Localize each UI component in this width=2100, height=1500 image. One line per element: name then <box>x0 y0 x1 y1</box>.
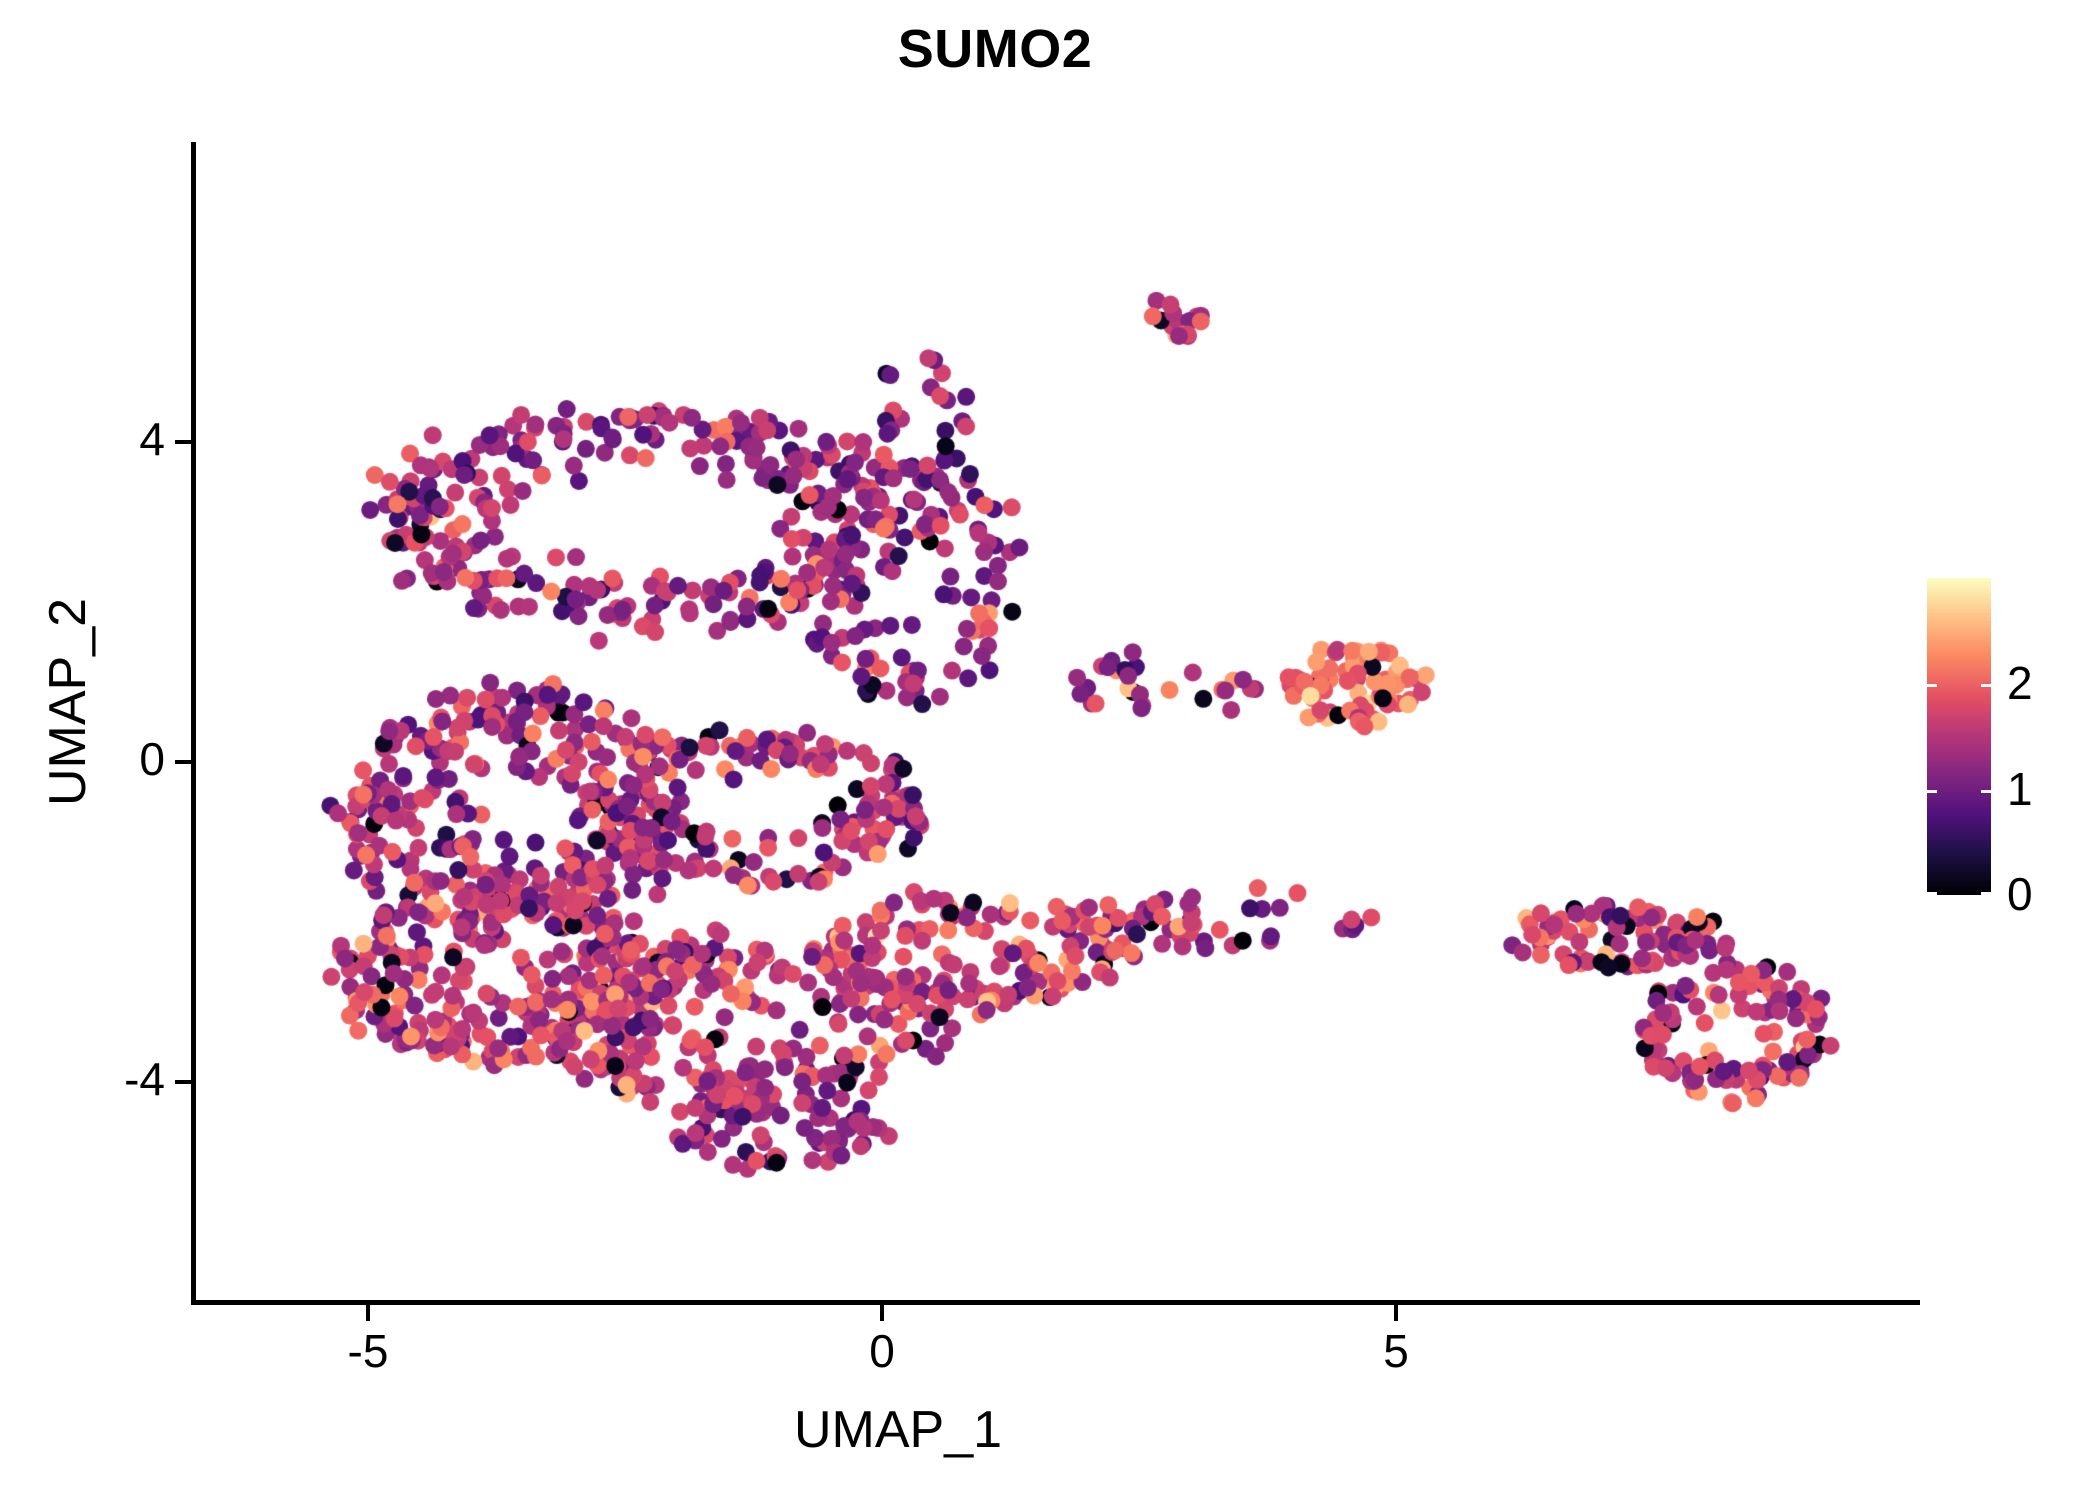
colorbar-tick-0-left <box>1927 892 1937 895</box>
x-tick-mark-2 <box>1394 1305 1398 1321</box>
colorbar-gradient <box>1927 578 1991 895</box>
x-tick-label-1: 0 <box>802 1326 962 1377</box>
colorbar-tick-1-right <box>1981 790 1991 793</box>
x-tick-label-0: -5 <box>288 1326 448 1377</box>
colorbar-label-2: 2 <box>2007 658 2033 709</box>
x-axis-title: UMAP_1 <box>193 1400 1603 1460</box>
x-tick-label-2: 5 <box>1316 1326 1476 1377</box>
colorbar-tick-2-left <box>1927 684 1937 687</box>
y-tick-mark-0 <box>175 440 191 444</box>
umap-scatter-plot <box>0 0 2100 1500</box>
colorbar-tick-1-left <box>1927 790 1937 793</box>
colorbar-tick-2-right <box>1981 684 1991 687</box>
y-tick-mark-1 <box>175 760 191 764</box>
y-tick-mark-2 <box>175 1080 191 1084</box>
colorbar-label-1: 1 <box>2007 764 2033 815</box>
colorbar-legend: 2 1 0 <box>1927 578 1991 895</box>
y-axis-title: UMAP_2 <box>38 352 98 1052</box>
colorbar-label-0: 0 <box>2007 869 2033 920</box>
y-tick-label-2: -4 <box>35 1054 165 1105</box>
x-tick-mark-0 <box>366 1305 370 1321</box>
colorbar-tick-0-right <box>1981 892 1991 895</box>
feature-plot-figure: SUMO2 -5 0 5 4 0 -4 UMAP_1 UMAP_2 2 1 0 <box>0 0 2100 1500</box>
x-tick-mark-1 <box>880 1305 884 1321</box>
